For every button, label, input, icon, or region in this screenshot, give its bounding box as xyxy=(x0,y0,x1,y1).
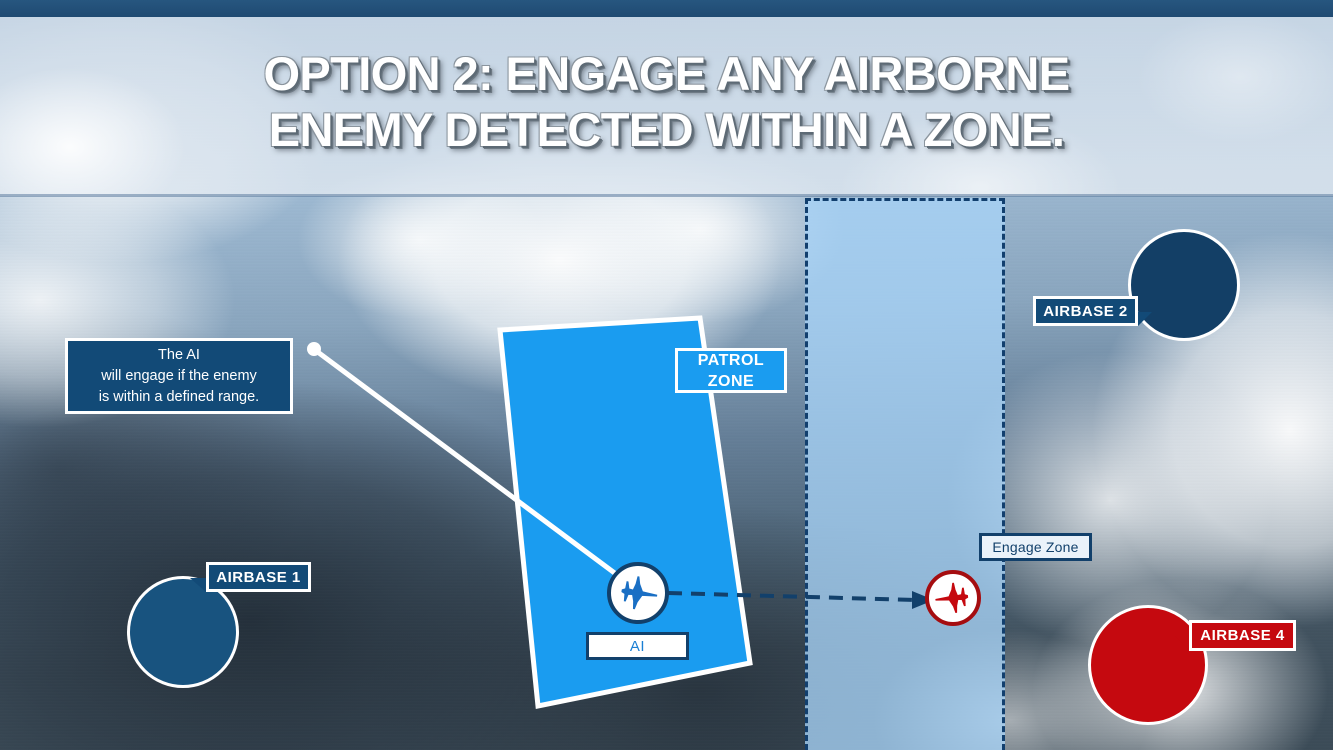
ai-aircraft-marker[interactable] xyxy=(607,562,669,624)
airbase-2-circle[interactable] xyxy=(1128,229,1240,341)
slide-canvas: The AI will engage if the enemy is withi… xyxy=(0,0,1333,750)
airbase-1-label[interactable]: AIRBASE 1 xyxy=(206,562,311,592)
title-band-divider xyxy=(0,194,1333,197)
top-accent-bar xyxy=(0,0,1333,17)
airbase-4-label[interactable]: AIRBASE 4 xyxy=(1189,620,1296,651)
fighter-jet-icon xyxy=(615,570,661,616)
engage-zone-label[interactable]: Engage Zone xyxy=(979,533,1092,561)
title-band xyxy=(0,17,1333,196)
ai-unit-label[interactable]: AI xyxy=(586,632,689,660)
airbase-2-label[interactable]: AIRBASE 2 xyxy=(1033,296,1138,326)
engage-zone-rect xyxy=(805,198,1005,750)
fighter-jet-icon xyxy=(932,577,974,619)
enemy-aircraft-marker[interactable] xyxy=(925,570,981,626)
patrol-zone-label[interactable]: PATROL ZONE xyxy=(675,348,787,393)
airbase-1-circle[interactable] xyxy=(127,576,239,688)
ai-engagement-callout-box: The AI will engage if the enemy is withi… xyxy=(65,338,293,414)
